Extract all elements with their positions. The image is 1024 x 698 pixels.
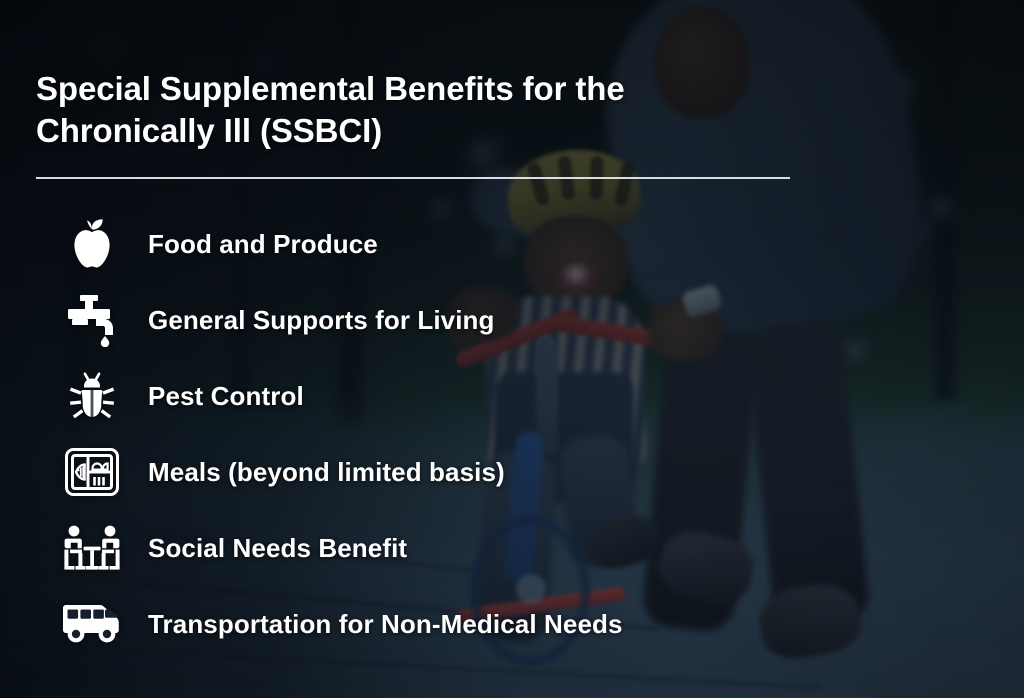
title-divider — [36, 177, 790, 179]
faucet-icon — [36, 292, 148, 348]
list-item: Social Needs Benefit — [36, 510, 936, 586]
benefits-list: Food and Produce General Supports for Li… — [36, 206, 936, 662]
list-item-label: Food and Produce — [148, 229, 378, 260]
list-item: General Supports for Living — [36, 282, 936, 358]
list-item: Meals (beyond limited basis) — [36, 434, 936, 510]
bus-icon — [36, 596, 148, 652]
list-item-label: Meals (beyond limited basis) — [148, 457, 505, 488]
page-title: Special Supplemental Benefits for the Ch… — [36, 68, 736, 151]
ssbci-slide: Special Supplemental Benefits for the Ch… — [0, 0, 1024, 698]
list-item: Transportation for Non-Medical Needs — [36, 586, 936, 662]
list-item-label: Transportation for Non-Medical Needs — [148, 609, 623, 640]
slide-content: Special Supplemental Benefits for the Ch… — [0, 0, 1024, 698]
list-item: Food and Produce — [36, 206, 936, 282]
apple-icon — [36, 216, 148, 272]
list-item-label: General Supports for Living — [148, 305, 495, 336]
people-table-icon — [36, 520, 148, 576]
list-item-label: Pest Control — [148, 381, 304, 412]
meal-tray-icon — [36, 444, 148, 500]
list-item-label: Social Needs Benefit — [148, 533, 407, 564]
bug-icon — [36, 368, 148, 424]
list-item: Pest Control — [36, 358, 936, 434]
